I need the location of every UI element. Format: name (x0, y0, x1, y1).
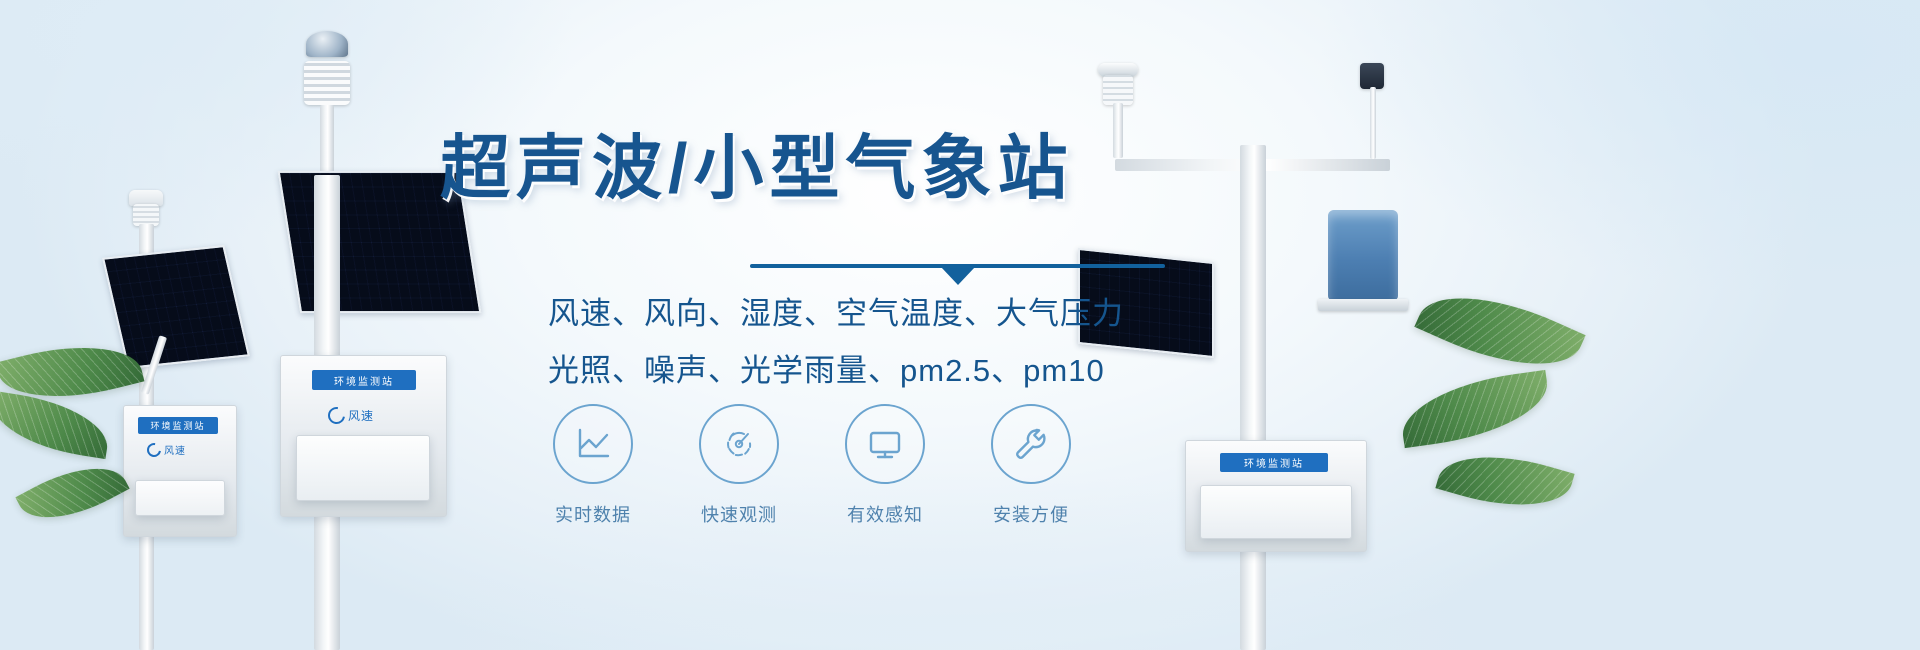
feature-list: 实时数据 (545, 404, 1079, 527)
feature-item-realtime-data[interactable]: 实时数据 (545, 404, 641, 527)
title-divider (750, 264, 1165, 268)
feature-label: 有效感知 (847, 501, 923, 527)
feature-icon-circle (845, 404, 925, 484)
subtitle-line-1: 风速、风向、湿度、空气温度、大气压力 (548, 288, 1448, 333)
line-chart-icon (572, 423, 614, 465)
wrench-icon (1010, 423, 1052, 465)
banner-content: 超声波/小型气象站 风速、风向、湿度、空气温度、大气压力 光照、噪声、光学雨量、… (0, 0, 1920, 650)
page-title: 超声波/小型气象站 (440, 112, 1120, 213)
feature-icon-circle (553, 404, 633, 484)
feature-icon-circle (699, 404, 779, 484)
feature-item-fast-observation[interactable]: 快速观测 (691, 404, 787, 527)
feature-item-effective-sensing[interactable]: 有效感知 (837, 404, 933, 527)
feature-label: 安装方便 (993, 501, 1069, 527)
feature-label: 快速观测 (701, 501, 777, 527)
feature-label: 实时数据 (555, 501, 631, 527)
monitor-icon (864, 423, 906, 465)
feature-icon-circle (991, 404, 1071, 484)
product-banner: 环境监测站 风速 环境监测站 风速 (0, 0, 1920, 650)
feature-item-easy-installation[interactable]: 安装方便 (983, 404, 1079, 527)
chevron-down-icon (941, 267, 975, 285)
subtitle-line-2: 光照、噪声、光学雨量、pm2.5、pm10 (548, 345, 1448, 390)
radar-signal-icon (718, 423, 760, 465)
